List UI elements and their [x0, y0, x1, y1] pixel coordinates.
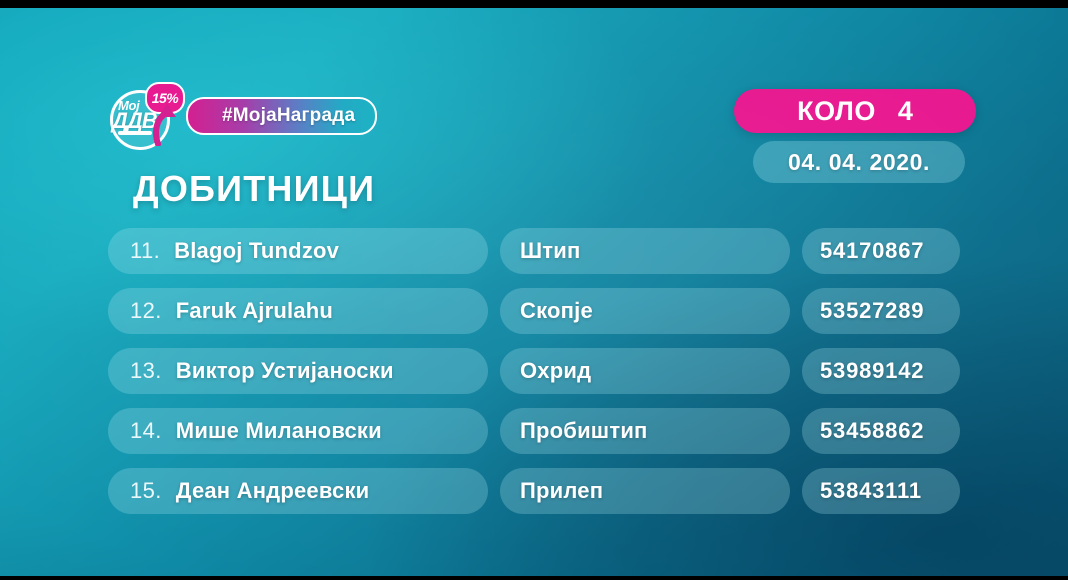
winner-code-cell: 53458862: [802, 408, 960, 454]
winner-name-cell: 12. Faruk Ajrulahu: [108, 288, 488, 334]
round-number: 4: [898, 96, 913, 127]
winner-city: Штип: [520, 238, 581, 264]
letterbox-bar-bottom: [0, 576, 1068, 580]
winner-code-cell: 53843111: [802, 468, 960, 514]
winner-code-cell: 53989142: [802, 348, 960, 394]
logo-underline-shape: [118, 131, 152, 135]
logo-mark: Мој ДДВ 15%: [108, 86, 182, 146]
winner-code: 53989142: [820, 358, 924, 384]
winner-code: 53458862: [820, 418, 924, 444]
brand-logo: Мој ДДВ 15% #MojaНаграда: [108, 84, 368, 148]
date-text: 04. 04. 2020.: [788, 149, 930, 176]
broadcast-graphic-screen: Мој ДДВ 15% #MojaНаграда КОЛО 4 04. 04. …: [0, 0, 1068, 580]
winner-index: 12.: [130, 298, 162, 324]
winner-city: Пробиштип: [520, 418, 648, 444]
winner-code-cell: 53527289: [802, 288, 960, 334]
winner-name: Деан Андреевски: [176, 478, 370, 504]
winner-city-cell: Прилеп: [500, 468, 790, 514]
winner-name: Мише Милановски: [176, 418, 382, 444]
winner-city-cell: Охрид: [500, 348, 790, 394]
winner-code: 53843111: [820, 478, 922, 504]
letterbox-bar-top: [0, 0, 1068, 8]
winner-name: Blagoj Tundzov: [174, 238, 339, 264]
round-badge: КОЛО 4: [734, 89, 976, 133]
winner-city-cell: Скопје: [500, 288, 790, 334]
winners-list: 11. Blagoj Tundzov Штип 54170867 12. Far…: [108, 228, 960, 528]
winner-index: 14.: [130, 418, 162, 444]
winner-name-cell: 15. Деан Андреевски: [108, 468, 488, 514]
winner-name: Виктор Устијаноски: [176, 358, 394, 384]
winner-city-cell: Штип: [500, 228, 790, 274]
winner-index: 13.: [130, 358, 162, 384]
hashtag-pill: #MojaНаграда: [186, 97, 377, 135]
winner-name-cell: 11. Blagoj Tundzov: [108, 228, 488, 274]
winner-city-cell: Пробиштип: [500, 408, 790, 454]
winner-code-cell: 54170867: [802, 228, 960, 274]
winner-code: 53527289: [820, 298, 924, 324]
table-row: 14. Мише Милановски Пробиштип 53458862: [108, 408, 960, 454]
winner-index: 11.: [130, 238, 160, 264]
winner-name-cell: 14. Мише Милановски: [108, 408, 488, 454]
winner-index: 15.: [130, 478, 162, 504]
table-row: 11. Blagoj Tundzov Штип 54170867: [108, 228, 960, 274]
winner-name: Faruk Ajrulahu: [176, 298, 333, 324]
winner-city: Скопје: [520, 298, 593, 324]
winner-name-cell: 13. Виктор Устијаноски: [108, 348, 488, 394]
round-label: КОЛО: [797, 96, 876, 127]
page-title: ДОБИТНИЦИ: [133, 168, 375, 210]
winner-code: 54170867: [820, 238, 924, 264]
winner-city: Охрид: [520, 358, 591, 384]
table-row: 13. Виктор Устијаноски Охрид 53989142: [108, 348, 960, 394]
logo-arrow-icon: [152, 102, 182, 146]
winner-city: Прилеп: [520, 478, 603, 504]
table-row: 12. Faruk Ajrulahu Скопје 53527289: [108, 288, 960, 334]
date-pill: 04. 04. 2020.: [753, 141, 965, 183]
table-row: 15. Деан Андреевски Прилеп 53843111: [108, 468, 960, 514]
